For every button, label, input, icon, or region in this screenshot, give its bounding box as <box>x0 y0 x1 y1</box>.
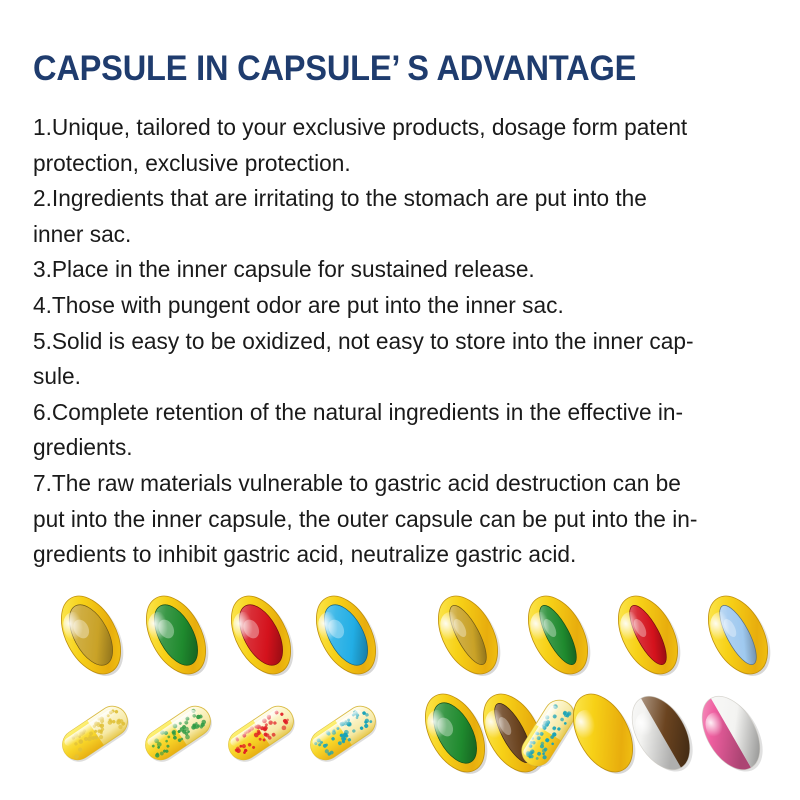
capsule-oval-green <box>133 585 219 685</box>
advantage-line: 7.The raw materials vulnerable to gastri… <box>33 466 749 502</box>
advantage-line: 6.Complete retention of the natural ingr… <box>33 395 749 431</box>
advantage-line: gredients to inhibit gastric acid, neutr… <box>33 537 749 573</box>
advantage-line: sule. <box>33 359 749 395</box>
pellet-and-two-tone-row <box>0 683 800 783</box>
oval-softgel-row <box>0 585 800 685</box>
advantage-line: put into the inner capsule, the outer ca… <box>33 502 749 538</box>
capsule-illustration-area <box>0 575 800 800</box>
advantage-line: 5.Solid is easy to be oxidized, not easy… <box>33 324 749 360</box>
capsule-pellet-teal <box>300 683 386 783</box>
capsule-oval-red-narrow <box>605 585 691 685</box>
capsule-two-tone-pink-white <box>688 683 774 783</box>
capsule-pellet-gold <box>52 683 138 783</box>
advantage-line: 1.Unique, tailored to your exclusive pro… <box>33 110 749 146</box>
capsule-pellet-red <box>218 683 304 783</box>
capsule-pellet-green <box>135 683 221 783</box>
advantage-line: 2.Ingredients that are irritating to the… <box>33 181 749 217</box>
capsule-oval-amber-narrow <box>425 585 511 685</box>
advantages-text-block: 1.Unique, tailored to your exclusive pro… <box>33 110 749 573</box>
advantage-line: 4.Those with pungent odor are put into t… <box>33 288 749 324</box>
capsule-oval-green-narrow <box>515 585 601 685</box>
capsule-oval-blue-narrow <box>695 585 781 685</box>
advantage-line: gredients. <box>33 430 749 466</box>
capsule-oval-blue <box>303 585 389 685</box>
page-title: CAPSULE IN CAPSULE’ S ADVANTAGE <box>33 48 721 90</box>
advantage-line: inner sac. <box>33 217 749 253</box>
advantage-line: 3.Place in the inner capsule for sustain… <box>33 252 749 288</box>
capsule-oval-red <box>218 585 304 685</box>
capsule-oval-amber <box>48 585 134 685</box>
advantage-line: protection, exclusive protection. <box>33 146 749 182</box>
